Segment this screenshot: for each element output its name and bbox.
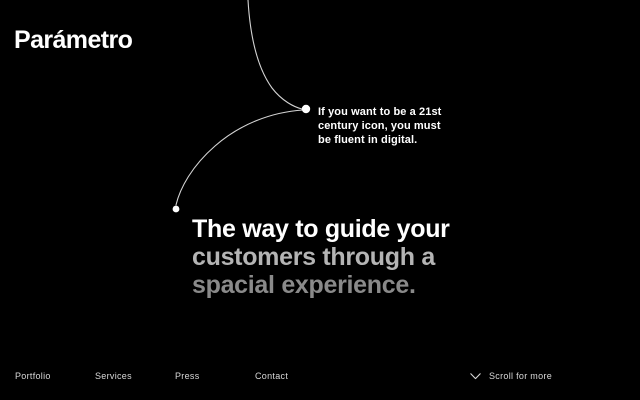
headline-anchor-dot bbox=[173, 206, 180, 213]
quote-line-1: If you want to be a 21st bbox=[318, 105, 498, 119]
nav-link-press[interactable]: Press bbox=[175, 370, 200, 382]
quote-line-3: be fluent in digital. bbox=[318, 133, 498, 147]
quote-line-2: century icon, you must bbox=[318, 119, 498, 133]
chevron-down-icon bbox=[470, 373, 481, 380]
curve-segment-top bbox=[248, 0, 302, 109]
headline-line-2: customers through a bbox=[192, 243, 450, 271]
curve-segment-arc bbox=[176, 110, 303, 205]
quote-anchor-dot bbox=[302, 105, 310, 113]
nav-link-portfolio[interactable]: Portfolio bbox=[15, 370, 51, 382]
landing-page: Parámetro If you want to be a 21st centu… bbox=[0, 0, 640, 400]
page-title: The way to guide your customers through … bbox=[192, 215, 450, 299]
headline-line-1: The way to guide your bbox=[192, 215, 450, 243]
decorative-curve bbox=[0, 0, 640, 400]
nav-link-services[interactable]: Services bbox=[95, 370, 132, 382]
quote-block: If you want to be a 21st century icon, y… bbox=[318, 105, 498, 147]
scroll-for-more-label: Scroll for more bbox=[489, 370, 552, 382]
headline-line-3: spacial experience. bbox=[192, 271, 450, 299]
scroll-for-more-button[interactable]: Scroll for more bbox=[470, 370, 552, 382]
nav-link-contact[interactable]: Contact bbox=[255, 370, 288, 382]
brand-logo[interactable]: Parámetro bbox=[14, 26, 132, 54]
